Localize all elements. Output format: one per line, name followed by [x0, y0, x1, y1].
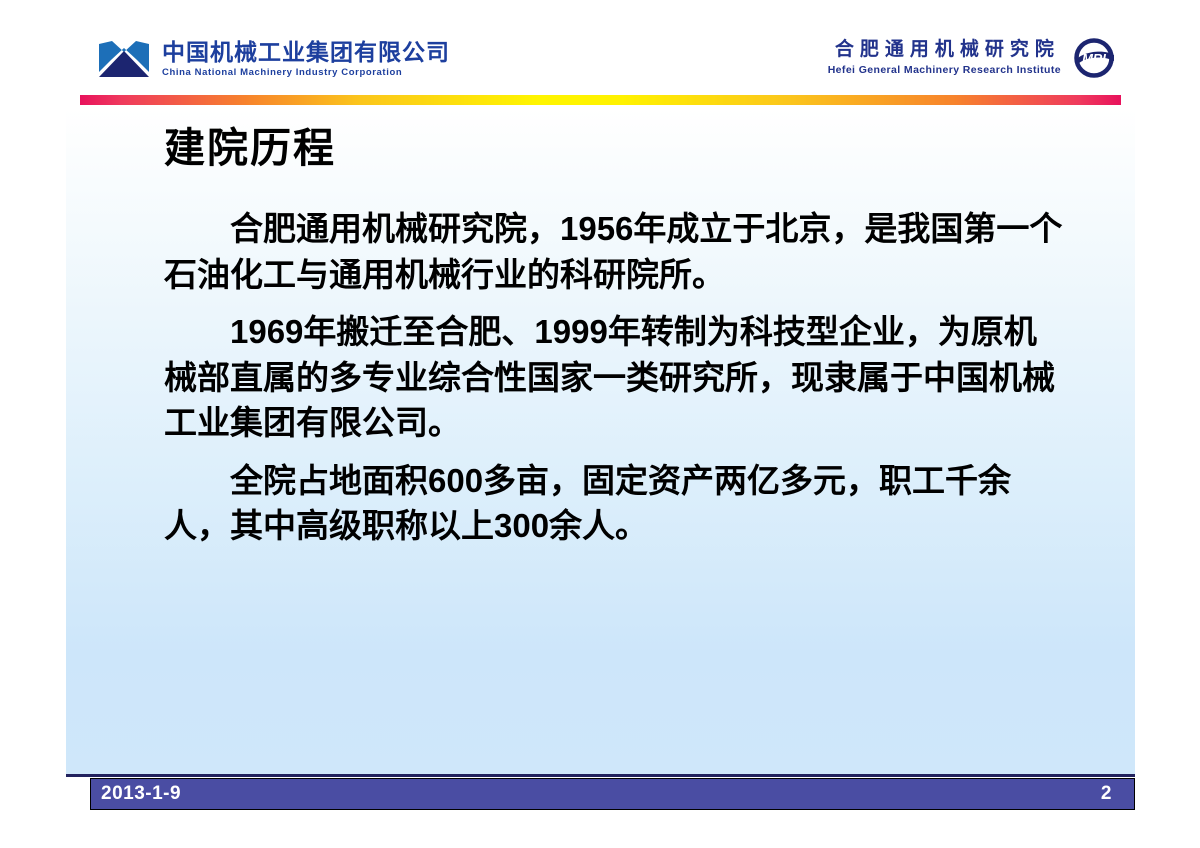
cnmic-branding: 中国机械工业集团有限公司 China National Machinery In…: [96, 38, 450, 80]
body-paragraph: 全院占地面积600多亩，固定资产两亿多元，职工千余人，其中高级职称以上300余人…: [164, 458, 1069, 549]
footer-date: 2013-1-9: [91, 783, 181, 805]
presentation-slide: 中国机械工业集团有限公司 China National Machinery In…: [66, 22, 1135, 826]
header-gradient-divider: [80, 95, 1121, 105]
cnmic-name-en: China National Machinery Industry Corpor…: [162, 68, 450, 78]
hgmri-name-en: Hefei General Machinery Research Institu…: [828, 65, 1061, 76]
cnmic-name-block: 中国机械工业集团有限公司 China National Machinery In…: [162, 41, 450, 78]
hgmri-name-cn: 合肥通用机械研究院: [829, 40, 1060, 59]
body-paragraph: 合肥通用机械研究院，1956年成立于北京，是我国第一个石油化工与通用机械行业的科…: [164, 206, 1069, 297]
hgmri-branding: 合肥通用机械研究院 Hefei General Machinery Resear…: [828, 38, 1117, 78]
mri-circular-logo-icon: MRI: [1071, 38, 1117, 78]
slide-body-text: 合肥通用机械研究院，1956年成立于北京，是我国第一个石油化工与通用机械行业的科…: [164, 206, 1069, 561]
slide-header: 中国机械工业集团有限公司 China National Machinery In…: [66, 22, 1135, 92]
hgmri-name-block: 合肥通用机械研究院 Hefei General Machinery Resear…: [828, 40, 1061, 76]
footer-page-number: 2: [1101, 783, 1134, 805]
cnmic-mountain-logo-icon: [96, 38, 152, 80]
svg-text:MRI: MRI: [1082, 51, 1106, 66]
body-paragraph: 1969年搬迁至合肥、1999年转制为科技型企业，为原机械部直属的多专业综合性国…: [164, 309, 1069, 446]
slide-content-panel: 建院历程 合肥通用机械研究院，1956年成立于北京，是我国第一个石油化工与通用机…: [66, 108, 1135, 777]
slide-footer: 2013-1-9 2: [90, 778, 1135, 810]
cnmic-name-cn: 中国机械工业集团有限公司: [162, 41, 450, 64]
page-title: 建院历程: [164, 126, 336, 171]
